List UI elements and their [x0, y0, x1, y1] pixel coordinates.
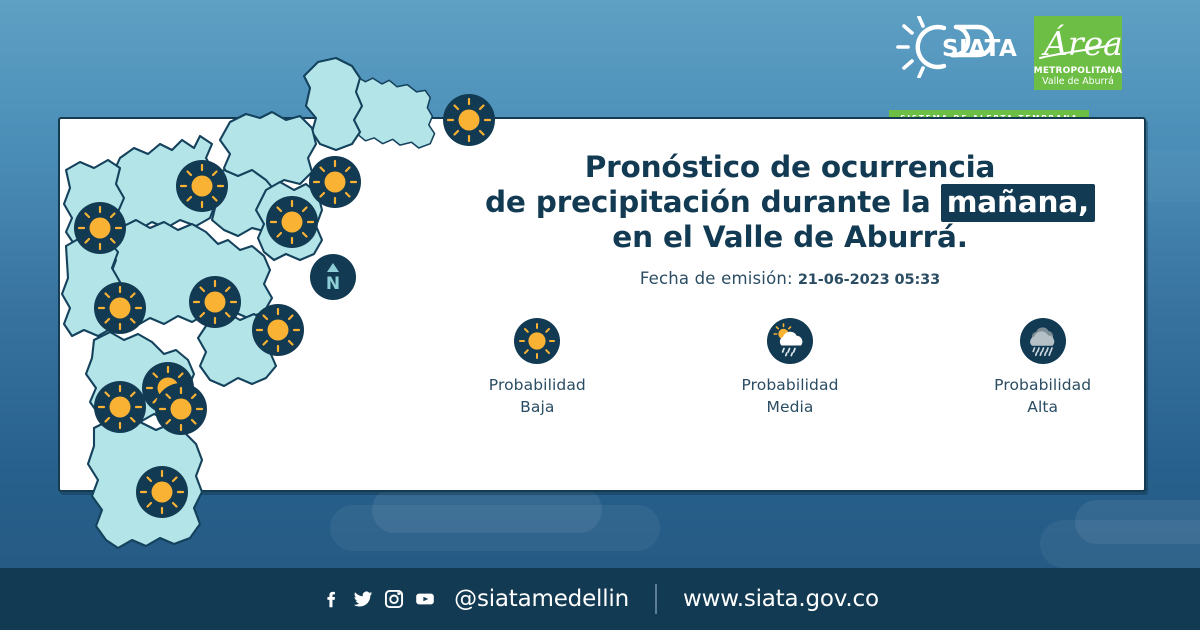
legend-label-line2: Baja	[520, 396, 554, 418]
sun-icon	[188, 275, 242, 329]
twitter-icon[interactable]	[352, 588, 374, 610]
sun-icon	[265, 195, 319, 249]
map-marker-itagui[interactable]	[251, 303, 305, 357]
issue-date: Fecha de emisión:21-06-2023 05:33	[470, 269, 1110, 288]
legend-label-line1: Probabilidad	[489, 374, 586, 396]
map-marker-medellin[interactable]	[188, 275, 242, 329]
legend-item-baja: Probabilidad Baja	[470, 318, 605, 418]
legend-item-alta: Probabilidad Alta	[975, 318, 1110, 418]
cloud-rain-icon	[1020, 318, 1066, 364]
svg-text:SIATA: SIATA	[942, 36, 1017, 62]
sun-icon	[442, 93, 496, 147]
sun-icon	[175, 159, 229, 213]
logo-group: SIATA SISTEMA DE ALERTA TEMPRANA Área ME…	[896, 16, 1122, 90]
title-line-2-text: de precipitación durante la	[485, 185, 941, 219]
sun-icon	[514, 318, 560, 364]
social-links	[321, 588, 436, 610]
sun-icon	[93, 281, 147, 335]
footer-bar: @siatamedellin www.siata.gov.co	[0, 568, 1200, 630]
svg-text:Área: Área	[1041, 23, 1122, 63]
legend-label-line1: Probabilidad	[741, 374, 838, 396]
youtube-icon[interactable]	[414, 588, 436, 610]
social-handle[interactable]: @siatamedellin	[454, 586, 629, 612]
issue-date-value: 21-06-2023 05:33	[798, 272, 940, 288]
title-line-1: Pronóstico de ocurrencia	[470, 150, 1110, 185]
forecast-panel: Pronóstico de ocurrencia de precipitació…	[470, 150, 1110, 418]
sun-icon	[135, 465, 189, 519]
title-highlight: mañana,	[941, 184, 1095, 222]
area-script-icon: Área	[1034, 18, 1122, 66]
instagram-icon[interactable]	[383, 588, 405, 610]
area-metropolitana-logo: Área METROPOLITANA Valle de Aburrá	[1034, 16, 1122, 90]
page-title: Pronóstico de ocurrencia de precipitació…	[470, 150, 1110, 255]
legend-item-media: Probabilidad Media	[723, 318, 858, 418]
municipality-shape	[347, 77, 435, 148]
map-marker-bello[interactable]	[73, 201, 127, 255]
legend-label-line1: Probabilidad	[994, 374, 1091, 396]
map-marker-caldas[interactable]	[135, 465, 189, 519]
sun-icon	[154, 382, 208, 436]
area-line1: METROPOLITANA	[1034, 66, 1123, 76]
probability-legend: Probabilidad Baja	[470, 318, 1110, 418]
issue-date-label: Fecha de emisión:	[640, 269, 793, 288]
title-line-2: de precipitación durante la mañana,	[470, 185, 1110, 220]
map-marker-la-estrella[interactable]	[93, 380, 147, 434]
map-marker-barbosa[interactable]	[442, 93, 496, 147]
compass-label: N	[326, 274, 340, 294]
footer-divider	[655, 584, 657, 614]
north-arrow-icon: N	[310, 254, 356, 300]
background-cloud-left-puff	[372, 487, 602, 533]
map-marker-copacabana[interactable]	[265, 195, 319, 249]
siata-logo: SIATA SISTEMA DE ALERTA TEMPRANA	[896, 16, 1024, 78]
valle-de-aburra-map: N	[60, 40, 360, 570]
legend-label-line2: Alta	[1027, 396, 1058, 418]
sun-cloud-icon: SIATA	[896, 16, 1024, 78]
background-cloud-right-puff	[1075, 500, 1200, 544]
infographic-canvas: SIATA SISTEMA DE ALERTA TEMPRANA Área ME…	[0, 0, 1200, 630]
facebook-icon[interactable]	[321, 588, 343, 610]
sun-icon	[93, 380, 147, 434]
sun-icon	[73, 201, 127, 255]
website-url[interactable]: www.siata.gov.co	[683, 586, 879, 612]
map-marker-san-pedro[interactable]	[175, 159, 229, 213]
sun-icon	[251, 303, 305, 357]
compass-rose: N	[310, 254, 356, 300]
sun-cloud-rain-icon	[767, 318, 813, 364]
title-line-3: en el Valle de Aburrá.	[470, 220, 1110, 255]
map-marker-envigado[interactable]	[93, 281, 147, 335]
area-line2: Valle de Aburrá	[1042, 76, 1114, 87]
legend-label-line2: Media	[766, 396, 813, 418]
map-marker-caldas-norte[interactable]	[154, 382, 208, 436]
